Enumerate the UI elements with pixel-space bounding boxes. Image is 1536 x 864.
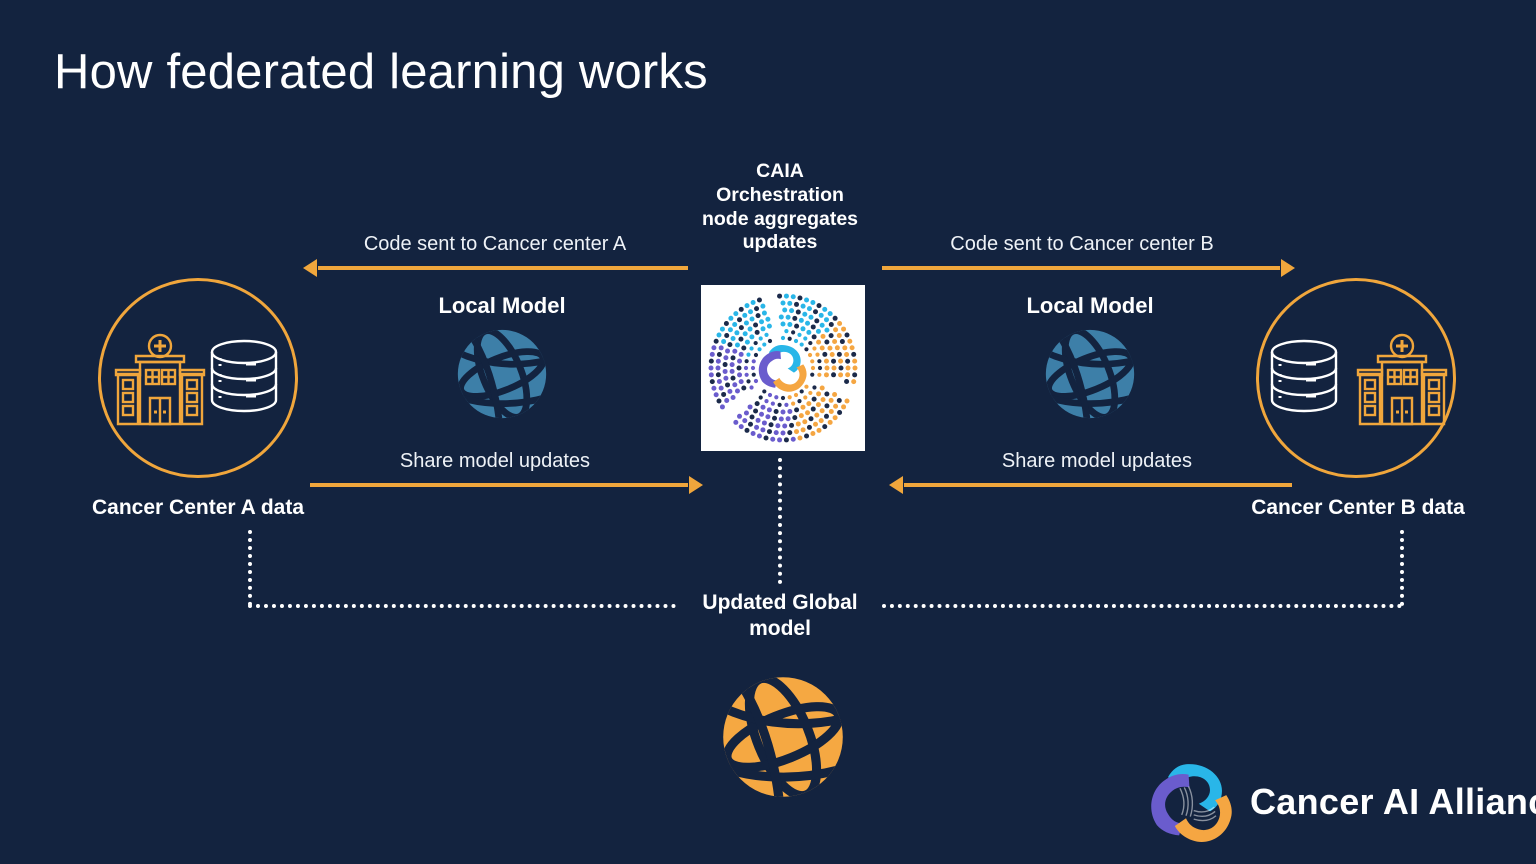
caia-node-caption: CAIA Orchestration node aggregates updat… (688, 160, 872, 255)
global-model-title-line-2: model (749, 617, 811, 640)
global-model-title-line-1: Updated Global (702, 591, 857, 614)
right-local-model-title: Local Model (1000, 293, 1180, 320)
slide-canvas: How federated learning works CAIA Orches… (0, 0, 1536, 864)
right-code-arrow-label: Code sent to Cancer center B (878, 233, 1286, 256)
dotted-connector-left-vertical (248, 530, 252, 606)
dotted-connector-right-horizontal (882, 604, 1402, 608)
dotted-connector-left-horizontal (248, 604, 676, 608)
dotted-connector-right-vertical (1400, 530, 1404, 606)
right-share-arrow (904, 483, 1292, 487)
caia-caption-line-3: node aggregates (702, 208, 858, 230)
page-title: How federated learning works (54, 44, 708, 100)
left-code-arrow-label: Code sent to Cancer center A (300, 233, 690, 256)
right-share-arrow-label: Share model updates (888, 450, 1306, 473)
cancer-center-a-icons (98, 328, 298, 428)
caia-orchestration-node-icon (701, 285, 865, 451)
brand-logo: Cancer AI Alliance (1150, 760, 1536, 844)
right-code-arrow (882, 266, 1280, 270)
right-local-model-globe-icon (1042, 326, 1138, 422)
cancer-center-b-label: Cancer Center B data (1238, 495, 1478, 521)
left-code-arrow (318, 266, 688, 270)
left-share-arrow (310, 483, 688, 487)
three-hands-logo-icon (1150, 760, 1234, 844)
cancer-center-b-icons (1256, 328, 1456, 428)
global-model-globe-icon (718, 672, 848, 802)
left-local-model-title: Local Model (412, 293, 592, 320)
left-local-model-globe-icon (454, 326, 550, 422)
caia-caption-line-4: updates (743, 231, 818, 253)
global-model-title: Updated Global model (690, 590, 870, 641)
brand-name: Cancer AI Alliance (1250, 781, 1536, 823)
cancer-center-a-label: Cancer Center A data (78, 495, 318, 521)
left-share-arrow-label: Share model updates (300, 450, 690, 473)
caia-caption-line-2: Orchestration (716, 184, 844, 206)
caia-caption-line-1: CAIA (756, 160, 804, 182)
dotted-connector-center-vertical (778, 458, 782, 584)
